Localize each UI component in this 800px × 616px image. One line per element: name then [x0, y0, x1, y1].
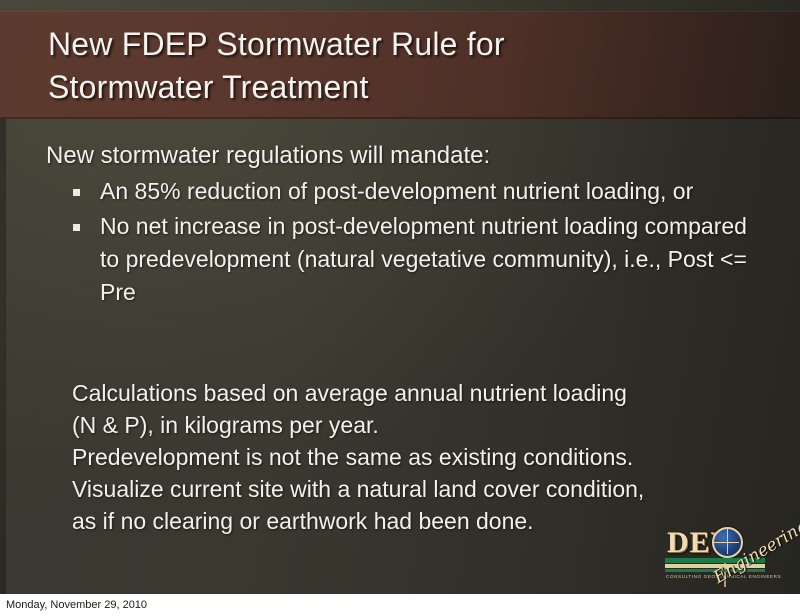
paragraph-line: Visualize current site with a natural la…	[72, 473, 762, 505]
square-bullet-icon	[73, 224, 80, 231]
square-bullet-icon	[73, 189, 80, 196]
bullet-text: No net increase in post-development nutr…	[100, 213, 747, 305]
devo-engineering-logo: DEV CONSULTING GEOTECHNICAL ENGINEERS En…	[663, 524, 795, 590]
globe-equator-line	[712, 542, 739, 544]
footer-bar: Monday, November 29, 2010	[0, 594, 800, 616]
paragraph-line: (N & P), in kilograms per year.	[72, 409, 762, 441]
page-title: New FDEP Stormwater Rule for Stormwater …	[48, 23, 748, 109]
paragraph-block: Calculations based on average annual nut…	[72, 377, 762, 537]
footer-date: Monday, November 29, 2010	[6, 598, 147, 612]
slide-canvas: New FDEP Stormwater Rule for Stormwater …	[0, 0, 800, 594]
bullet-text: An 85% reduction of post-development nut…	[100, 178, 693, 204]
lead-statement: New stormwater regulations will mandate:	[46, 141, 490, 171]
paragraph-line: Predevelopment is not the same as existi…	[72, 441, 762, 473]
paragraph-line: Calculations based on average annual nut…	[72, 377, 762, 409]
slide-body: New stormwater regulations will mandate:…	[0, 119, 800, 594]
title-band: New FDEP Stormwater Rule for Stormwater …	[0, 11, 800, 119]
list-item: No net increase in post-development nutr…	[72, 210, 772, 309]
globe-meridian-line	[727, 527, 729, 554]
slide-root: New FDEP Stormwater Rule for Stormwater …	[0, 0, 800, 616]
list-item: An 85% reduction of post-development nut…	[72, 175, 772, 208]
top-accent-strip	[0, 0, 800, 11]
paragraph-line: as if no clearing or earthwork had been …	[72, 505, 762, 537]
bullet-list: An 85% reduction of post-development nut…	[72, 175, 772, 311]
